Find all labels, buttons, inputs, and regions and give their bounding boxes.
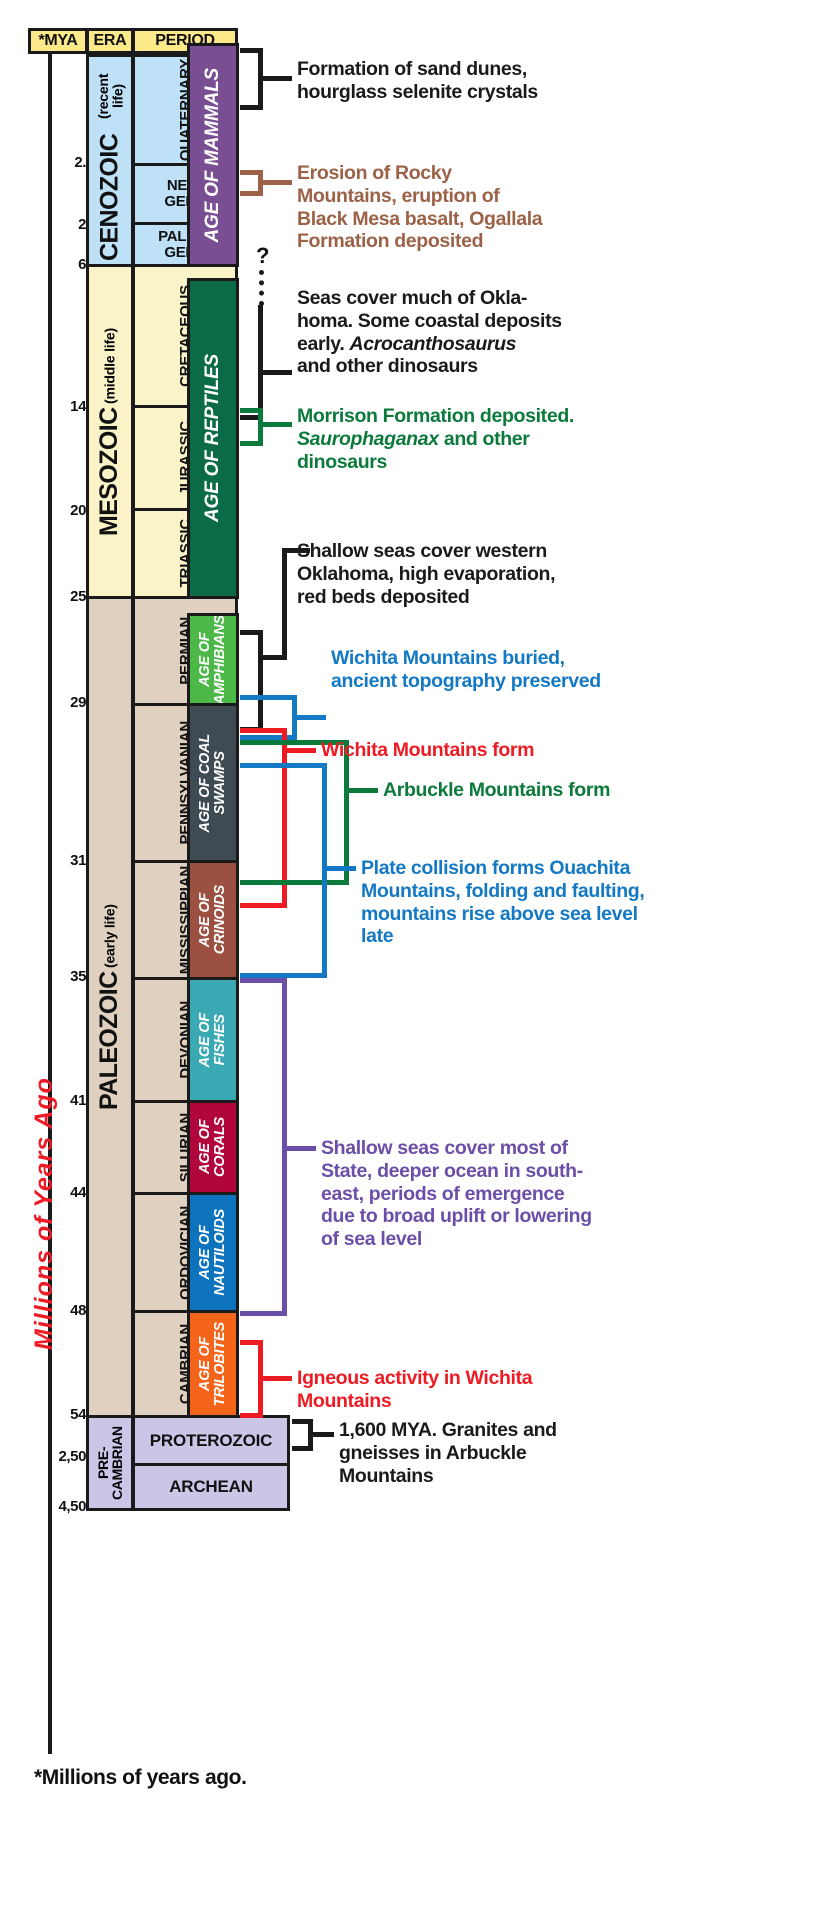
bracket-igneous-bottom [240,1413,263,1418]
bracket-rockies-stem [262,180,292,185]
annotation-seas-ok-line2: homa. Some coastal deposits [297,310,672,333]
annotation-ouachita: Plate collision forms Ouachita Mountains… [361,857,691,948]
bracket-shallow-w-stem-v [282,548,287,660]
age-amphibians[interactable]: AGE OF AMPHIBIANS [187,613,239,706]
age-amphibians-label: AGE OF AMPHIBIANS [198,615,228,705]
annotation-ouachita-line2: Mountains, folding and faulting, [361,880,691,903]
annotation-morrison-genus: Saurophaganax [297,428,439,450]
annotation-morrison-line2: Saurophaganax and other [297,428,672,451]
bracket-wichita-f-stem [286,748,316,753]
annotation-wichita-buried-line2: ancient topography preserved [331,670,671,693]
age-trilobites-label: AGE OF TRILOBITES [198,1322,228,1406]
era-paleozoic-label: PALEOZOIC [97,971,123,1110]
annotation-wichita-buried: Wichita Mountains buried, ancient topogr… [331,647,671,693]
period-archean[interactable]: ARCHEAN [132,1463,290,1511]
annotation-morrison: Morrison Formation deposited. Saurophaga… [297,405,672,473]
age-nautiloids-label: AGE OF NAUTILOIDS [198,1209,228,1296]
uncertainty-question-mark: ? [256,243,269,269]
annotation-shallow-s-line3: east, periods of emergence [321,1183,661,1206]
annotation-morrison-line1: Morrison Formation deposited. [297,405,672,428]
annotation-shallow-s-line2: State, deeper ocean in south- [321,1160,661,1183]
era-mesozoic-sublabel: (middle life) [103,328,117,404]
annotation-rockies-line1: Erosion of Rocky [297,162,667,185]
annotation-ouachita-line3: mountains rise above sea level [361,903,691,926]
annotation-granites-line2: gneisses in Arbuckle [339,1442,679,1465]
annotation-ouachita-line4: late [361,925,691,948]
period-archean-label: ARCHEAN [169,1477,253,1497]
uncertainty-text: ? [256,243,269,268]
age-trilobites[interactable]: AGE OF TRILOBITES [187,1310,239,1418]
age-fishes-label: AGE OF FISHES [198,1013,228,1067]
footnote-text: *Millions of years ago. [34,1766,247,1789]
annotation-seas-ok-line3: early. Acrocanthosaurus [297,333,672,356]
annotation-wichita-buried-line1: Wichita Mountains buried, [331,647,671,670]
annotation-rockies-line4: Formation deposited [297,230,667,253]
age-crinoids-label: AGE OF CRINOIDS [198,885,228,954]
bracket-rockies-bottom [240,191,263,196]
header-era: ERA [86,28,134,54]
annotation-igneous: Igneous activity in Wichita Mountains [297,1367,657,1413]
era-mesozoic[interactable]: MESOZOIC (middle life) [86,264,134,599]
era-precambrian-label: PRE-CAMBRIAN [96,1418,124,1508]
annotation-igneous-line1: Igneous activity in Wichita [297,1367,657,1390]
annotation-granites: 1,600 MYA. Granites and gneisses in Arbu… [339,1419,679,1487]
annotation-dunes-line2: hourglass selenite crystals [297,81,667,104]
bracket-granites-bottom [292,1446,313,1451]
annotation-igneous-line2: Mountains [297,1390,657,1413]
bracket-shallow-s-top [240,978,287,983]
bracket-morrison-stem [262,422,292,427]
bracket-ouachita-top [240,763,327,768]
annotation-arbuckle-form-line1: Arbuckle Mountains form [383,779,723,802]
bracket-uncertainty-dotted [259,270,264,306]
age-crinoids[interactable]: AGE OF CRINOIDS [187,860,239,980]
annotation-granites-line3: Mountains [339,1465,679,1488]
tick-label-2500: 2,500 [22,1448,94,1465]
age-coal-swamps-label: AGE OF COAL SWAMPS [198,734,228,833]
age-corals[interactable]: AGE OF CORALS [187,1100,239,1195]
age-corals-label: AGE OF CORALS [198,1117,228,1177]
annotation-ouachita-line1: Plate collision forms Ouachita [361,857,691,880]
annotation-wichita-form: Wichita Mountains form [321,739,661,762]
annotation-dunes-line1: Formation of sand dunes, [297,58,667,81]
bracket-arbuckle-f-stem [348,788,378,793]
bracket-dunes-stem [262,76,292,81]
bracket-igneous-stem [262,1376,292,1381]
tick-label-4500: 4,500 [22,1498,94,1515]
bracket-shallow-s-bottom [240,1311,287,1316]
annotation-seas-ok-genus: Acrocanthosaurus [349,333,516,355]
bracket-shallow-w-stem-h1 [262,655,287,660]
bracket-granites-top [292,1419,313,1424]
annotation-shallow-s: Shallow seas cover most of State, deeper… [321,1137,661,1251]
annotation-shallow-s-line5: of sea level [321,1228,661,1251]
age-nautiloids[interactable]: AGE OF NAUTILOIDS [187,1192,239,1313]
annotation-morrison-rest: and other [439,428,530,450]
annotation-seas-ok-line4: and other dinosaurs [297,355,672,378]
annotation-shallow-s-line1: Shallow seas cover most of [321,1137,661,1160]
annotation-granites-line1: 1,600 MYA. Granites and [339,1419,679,1442]
age-mammals[interactable]: AGE OF MAMMALS [187,43,239,267]
bracket-morrison-top [240,408,263,413]
annotation-shallow-w-line1: Shallow seas cover western [297,540,672,563]
bracket-arbuckle-f-bottom [240,880,349,885]
era-mesozoic-label: MESOZOIC [97,407,123,536]
annotation-shallow-w-line2: Oklahoma, high evaporation, [297,563,672,586]
age-fishes[interactable]: AGE OF FISHES [187,977,239,1103]
era-cenozoic-sublabel: (recent life) [96,61,125,131]
age-mammals-label: AGE OF MAMMALS [203,68,223,243]
header-era-label: ERA [94,32,127,50]
bracket-igneous-top [240,1340,263,1345]
era-paleozoic-sublabel: (early life) [103,904,117,968]
bracket-seas-ok-vertical [258,305,263,420]
annotation-shallow-s-line4: due to broad uplift or lowering [321,1205,661,1228]
footnote: *Millions of years ago. [34,1766,247,1790]
bracket-shallow-w-vertical [258,630,263,730]
bracket-wichita-b-stem [296,715,326,720]
header-mya: *MYA [28,28,88,54]
age-coal-swamps[interactable]: AGE OF COAL SWAMPS [187,703,239,863]
annotation-rockies-line2: Mountains, eruption of [297,185,667,208]
period-proterozoic[interactable]: PROTEROZOIC [132,1415,290,1466]
header-mya-label: *MYA [38,32,77,50]
annotation-wichita-form-line1: Wichita Mountains form [321,739,661,762]
bracket-dunes-bottom [240,105,263,110]
bracket-morrison-bottom [240,441,263,446]
bracket-wichita-f-bottom [240,903,287,908]
annotation-morrison-line3: dinosaurs [297,451,672,474]
bracket-wichita-b-top [240,695,297,700]
bracket-rockies-top [240,170,263,175]
era-paleozoic[interactable]: PALEOZOIC (early life) [86,596,134,1418]
annotation-seas-ok-early: early. [297,333,349,355]
annotation-arbuckle-form: Arbuckle Mountains form [383,779,723,802]
bracket-granites-stem [312,1432,334,1437]
era-cenozoic[interactable]: CENOZOIC (recent life) [86,54,134,267]
era-precambrian[interactable]: PRE-CAMBRIAN [86,1415,134,1511]
annotation-shallow-w-line3: red beds deposited [297,586,672,609]
age-reptiles[interactable]: AGE OF REPTILES [187,278,239,599]
age-reptiles-label: AGE OF REPTILES [203,354,223,522]
bracket-shallow-s-stem [286,1146,316,1151]
annotation-seas-ok-line1: Seas cover much of Okla- [297,287,672,310]
bracket-ouachita-stem [326,866,356,871]
annotation-shallow-w: Shallow seas cover western Oklahoma, hig… [297,540,672,608]
annotation-rockies-line3: Black Mesa basalt, Ogallala [297,208,667,231]
bracket-seas-ok-stem [262,370,292,375]
era-cenozoic-label: CENOZOIC [97,133,123,260]
annotation-rockies: Erosion of Rocky Mountains, eruption of … [297,162,667,253]
annotation-dunes: Formation of sand dunes, hourglass selen… [297,58,667,104]
period-proterozoic-label: PROTEROZOIC [150,1431,272,1451]
bracket-dunes-top [240,48,263,53]
annotation-seas-ok: Seas cover much of Okla- homa. Some coas… [297,287,672,378]
bracket-shallow-w-top [240,630,263,635]
bracket-wichita-f-top [240,728,287,733]
